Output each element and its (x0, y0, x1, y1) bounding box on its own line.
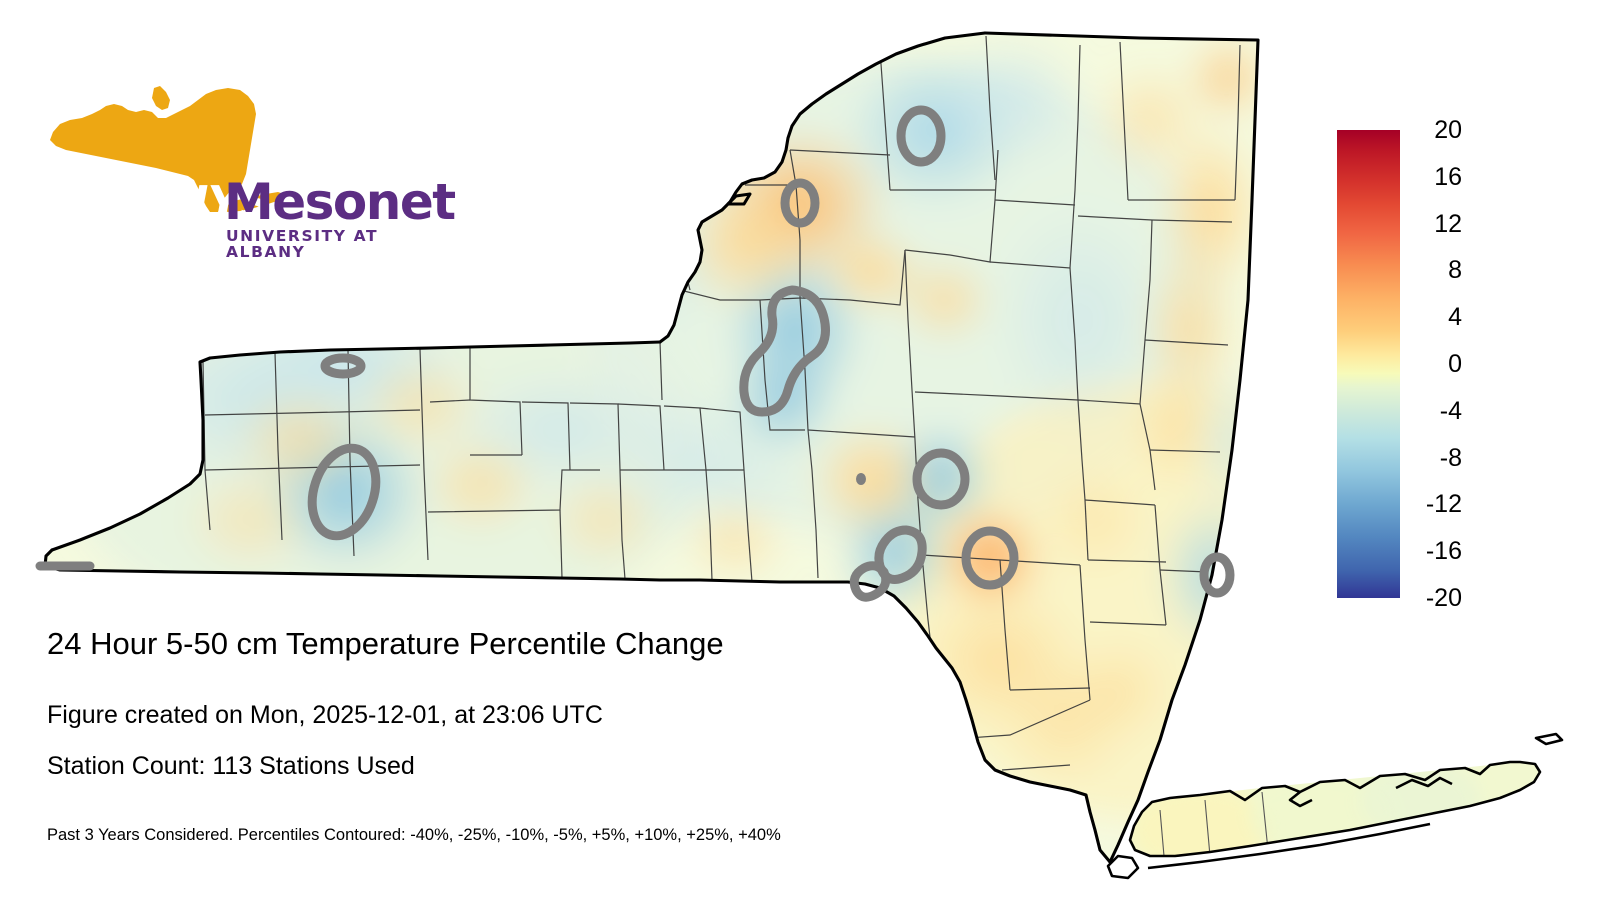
colorbar-tick-4: 4 (1410, 305, 1462, 330)
colorbar-tick-8: 8 (1410, 258, 1462, 283)
figure-root: NYS Mesonet UNIVERSITY AT ALBANY 2016128… (0, 0, 1600, 900)
contour-footnote: Past 3 Years Considered. Percentiles Con… (47, 827, 781, 844)
colorbar-tick-0: 0 (1410, 352, 1462, 377)
long-island-field (1100, 740, 1600, 880)
colorbar-tick-neg20: -20 (1410, 586, 1462, 611)
colorbar-tick-labels: 201612840-4-8-12-16-20 (1410, 110, 1520, 620)
figure-created-timestamp: Figure created on Mon, 2025-12-01, at 23… (47, 703, 603, 728)
page-title: 24 Hour 5-50 cm Temperature Percentile C… (47, 628, 724, 659)
colorbar-tick-16: 16 (1410, 165, 1462, 190)
logo-mesonet-text: Mesonet (224, 177, 455, 227)
temperature-percentile-colorbar (1337, 130, 1400, 598)
colorbar-tick-neg8: -8 (1410, 446, 1462, 471)
colorbar-tick-20: 20 (1410, 118, 1462, 143)
logo-subtitle: UNIVERSITY AT ALBANY (226, 229, 398, 260)
colorbar-tick-12: 12 (1410, 212, 1462, 237)
colorbar-tick-neg16: -16 (1410, 539, 1462, 564)
nys-mesonet-logo: NYS Mesonet UNIVERSITY AT ALBANY (48, 84, 398, 212)
station-markers (856, 473, 866, 485)
colorbar-gradient (1337, 130, 1400, 598)
colorbar-tick-neg12: -12 (1410, 492, 1462, 517)
station-count-line: Station Count: 113 Stations Used (47, 754, 415, 779)
colorbar-tick-neg4: -4 (1410, 399, 1462, 424)
